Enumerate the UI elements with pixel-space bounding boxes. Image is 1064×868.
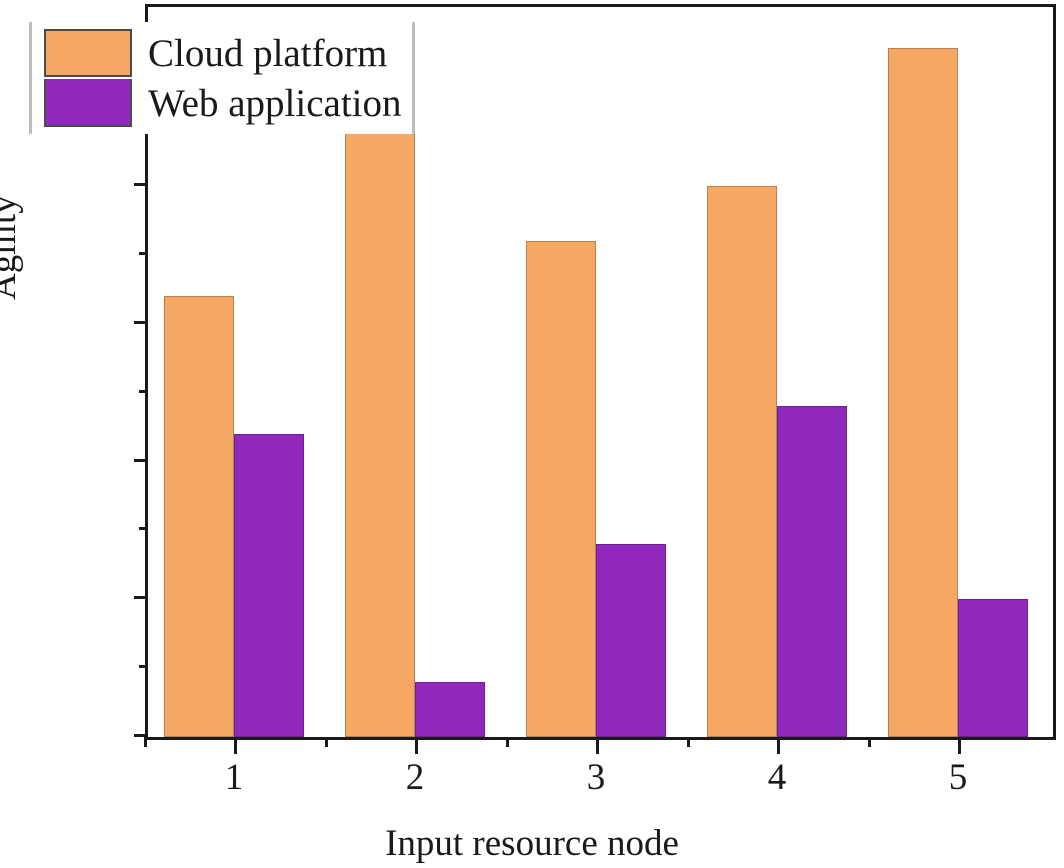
chart-figure: Agility 0.900.850.800.750.700.65 12345 C… <box>0 0 1064 868</box>
x-tick-label: 2 <box>385 756 445 799</box>
x-tick-label: 5 <box>928 756 988 799</box>
legend-item: Cloud platform <box>44 28 402 78</box>
legend-item: Web application <box>44 78 402 128</box>
bar-cloud-platform-node-4 <box>707 186 777 737</box>
bar-cloud-platform-node-1 <box>164 296 234 737</box>
x-tick-label: 4 <box>747 756 807 799</box>
x-tick-minor <box>868 737 871 747</box>
y-tick-major <box>134 321 148 324</box>
x-tick-label: 1 <box>204 756 264 799</box>
x-tick-minor <box>144 737 147 747</box>
legend-swatch-cloud-platform <box>44 29 132 77</box>
x-tick-major <box>415 737 418 754</box>
bar-cloud-platform-node-3 <box>526 241 596 737</box>
y-tick-minor <box>139 665 148 668</box>
y-tick-minor <box>139 527 148 530</box>
x-tick-minor <box>687 737 690 747</box>
legend-label: Cloud platform <box>148 34 387 73</box>
y-tick-major <box>134 183 148 186</box>
x-tick-label: 3 <box>566 756 626 799</box>
x-tick-minor <box>325 737 328 747</box>
x-tick-major <box>958 737 961 754</box>
legend-label: Web application <box>148 84 402 123</box>
bar-web-application-node-1 <box>234 434 304 737</box>
bar-cloud-platform-node-2 <box>345 131 415 737</box>
bar-web-application-node-3 <box>596 544 666 737</box>
bar-cloud-platform-node-5 <box>888 48 958 737</box>
y-tick-minor <box>139 252 148 255</box>
y-tick-minor <box>139 390 148 393</box>
x-tick-minor <box>506 737 509 747</box>
bar-web-application-node-4 <box>777 406 847 737</box>
x-tick-major <box>777 737 780 754</box>
bar-web-application-node-2 <box>415 682 485 737</box>
y-tick-major <box>134 459 148 462</box>
y-axis-title: Agility <box>0 195 25 300</box>
legend: Cloud platform Web application <box>29 22 415 134</box>
legend-swatch-web-application <box>44 79 132 127</box>
x-tick-major <box>234 737 237 754</box>
bar-web-application-node-5 <box>958 599 1028 737</box>
x-tick-major <box>596 737 599 754</box>
y-tick-major <box>134 596 148 599</box>
x-axis-title: Input resource node <box>0 822 1064 865</box>
